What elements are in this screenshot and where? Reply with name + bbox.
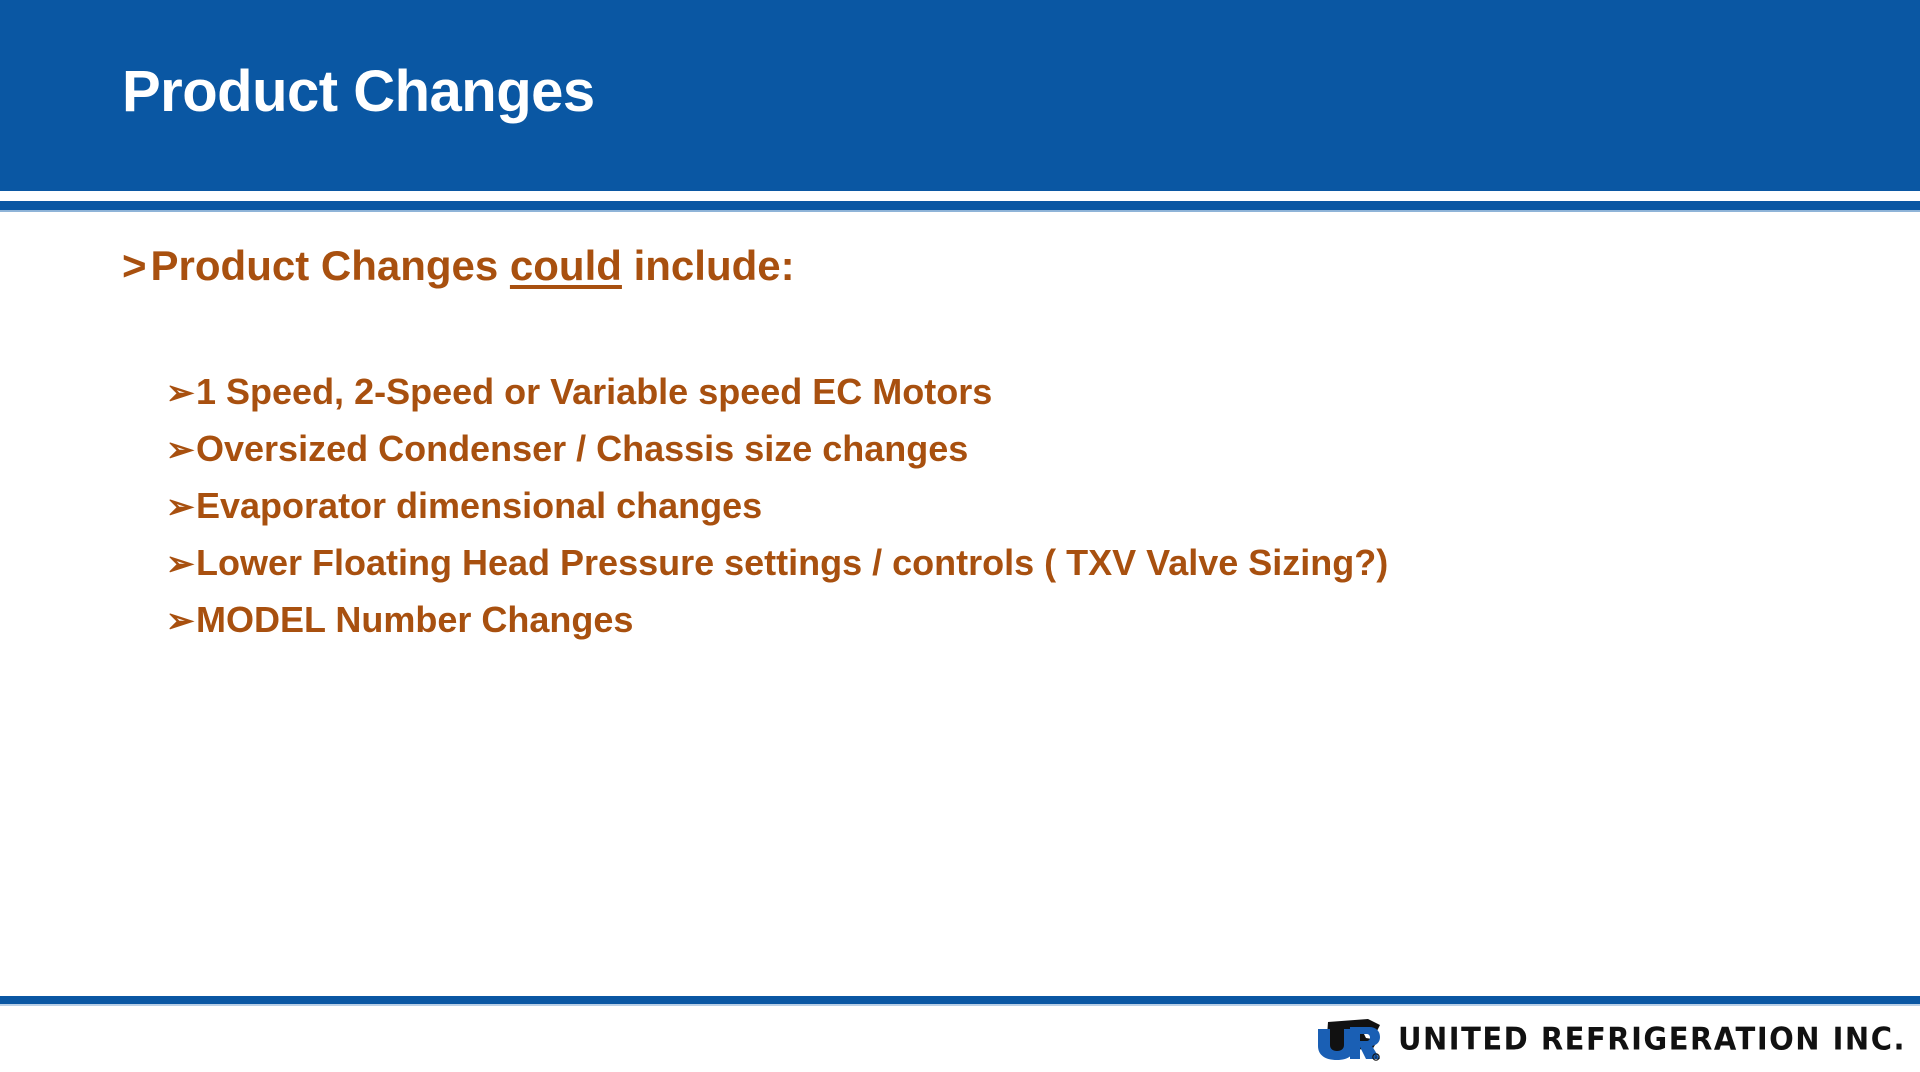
slide-content: >Product Changes could include: ➢ 1 Spee… [0, 212, 1920, 997]
lead-bullet-text-after: include: [622, 242, 795, 289]
list-item: ➢ Evaporator dimensional changes [166, 478, 1388, 535]
header-divider-bar [0, 201, 1920, 210]
list-item: ➢ Oversized Condenser / Chassis size cha… [166, 421, 1388, 478]
arrowhead-bullet-icon: ➢ [166, 593, 196, 649]
ur-monogram-logo-icon: R [1314, 1016, 1382, 1062]
page-title: Product Changes [122, 56, 595, 128]
list-item-label: MODEL Number Changes [196, 592, 633, 648]
list-item-label: Oversized Condenser / Chassis size chang… [196, 421, 968, 477]
svg-text:R: R [1375, 1055, 1378, 1060]
arrowhead-bullet-icon: ➢ [166, 479, 196, 535]
lead-bullet-emphasis: could [510, 242, 622, 289]
footer-divider-hairline [0, 1004, 1920, 1006]
lead-bullet: >Product Changes could include: [122, 240, 795, 292]
list-item-label: Lower Floating Head Pressure settings / … [196, 535, 1388, 591]
list-item-label: Evaporator dimensional changes [196, 478, 762, 534]
footer-brand: R UNITED REFRIGERATION INC. [1314, 1014, 1906, 1064]
lead-bullet-text-before: Product Changes [151, 242, 510, 289]
arrowhead-bullet-icon: ➢ [166, 422, 196, 478]
list-item: ➢ Lower Floating Head Pressure settings … [166, 535, 1388, 592]
list-item: ➢ MODEL Number Changes [166, 592, 1388, 649]
slide-header-banner: Product Changes [0, 0, 1920, 191]
list-item-label: 1 Speed, 2-Speed or Variable speed EC Mo… [196, 364, 992, 420]
arrowhead-bullet-icon: ➢ [166, 365, 196, 421]
lead-bullet-marker: > [122, 240, 147, 292]
brand-name-label: UNITED REFRIGERATION INC. [1398, 1021, 1906, 1057]
footer-divider-bar [0, 996, 1920, 1004]
arrowhead-bullet-icon: ➢ [166, 536, 196, 592]
list-item: ➢ 1 Speed, 2-Speed or Variable speed EC … [166, 364, 1388, 421]
sub-bullet-list: ➢ 1 Speed, 2-Speed or Variable speed EC … [166, 364, 1388, 649]
header-divider-gap [0, 191, 1920, 201]
